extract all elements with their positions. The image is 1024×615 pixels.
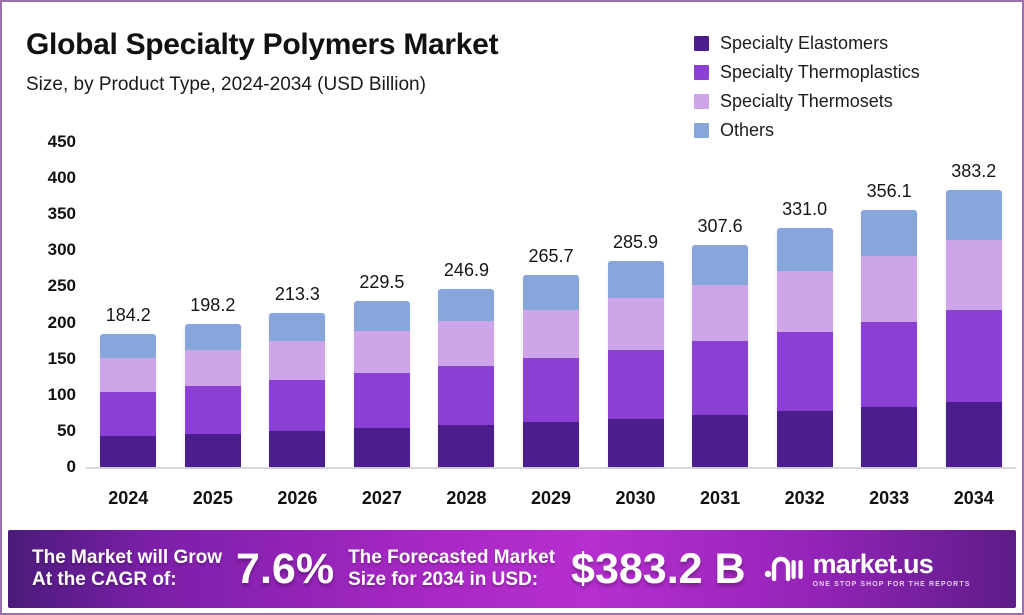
bar-segment[interactable] [438,425,494,467]
legend-item-label: Specialty Thermoplastics [720,62,920,83]
bar-segment[interactable] [861,256,917,322]
bar-segment[interactable] [608,261,664,298]
forecast-value: $383.2 B [571,545,746,594]
bar-segment[interactable] [861,407,917,467]
y-axis-tick-label: 50 [16,421,76,441]
bar-segment[interactable] [608,298,664,351]
x-axis-baseline [86,467,1016,469]
page-subtitle: Size, by Product Type, 2024-2034 (USD Bi… [26,74,426,96]
bar-segment[interactable] [354,331,410,373]
bar-segment[interactable] [523,275,579,310]
bar-group[interactable]: 184.2 [100,142,156,467]
y-axis-tick-label: 0 [16,457,76,477]
bar-segment[interactable] [185,350,241,386]
legend-item-label: Specialty Thermosets [720,91,893,112]
forecast-caption: The Forecasted Market Size for 2034 in U… [348,547,555,592]
bar-segment[interactable] [692,245,748,285]
bar-segment[interactable] [185,434,241,467]
bar-segment[interactable] [269,380,325,431]
legend-swatch-icon [694,123,709,138]
legend-item[interactable]: Specialty Thermosets [694,87,920,116]
bar-segment[interactable] [523,422,579,467]
bar-group[interactable]: 229.5 [354,142,410,467]
bar-segment[interactable] [861,322,917,407]
bar-segment[interactable] [438,289,494,321]
legend-swatch-icon [694,94,709,109]
bar-group[interactable]: 213.3 [269,142,325,467]
bar-segment[interactable] [100,392,156,436]
stacked-bar[interactable] [523,275,579,467]
bar-segment[interactable] [692,285,748,342]
stacked-bar[interactable] [185,324,241,467]
legend-item[interactable]: Specialty Elastomers [694,29,920,58]
chart-plot-area: 450400350300250200150100500 184.2198.221… [2,142,1024,517]
bar-segment[interactable] [692,415,748,467]
bar-total-label: 383.2 [914,161,1024,182]
stacked-bar[interactable] [438,289,494,467]
bar-segment[interactable] [608,350,664,419]
bar-segment[interactable] [269,341,325,380]
cagr-caption-line1: The Market will Grow [32,547,222,569]
bar-group[interactable]: 246.9 [438,142,494,467]
footer-banner: The Market will Grow At the CAGR of: 7.6… [8,530,1016,608]
y-axis-tick-label: 150 [16,349,76,369]
bar-segment[interactable] [692,341,748,415]
cagr-caption-line2: At the CAGR of: [32,569,222,591]
stacked-bar[interactable] [692,245,748,467]
y-axis-tick-label: 250 [16,276,76,296]
bar-segment[interactable] [100,436,156,467]
bar-segment[interactable] [946,402,1002,467]
bar-segment[interactable] [523,310,579,359]
legend-item-label: Others [720,120,774,141]
bar-segment[interactable] [946,310,1002,402]
logo-tagline: ONE STOP SHOP FOR THE REPORTS [813,581,971,588]
bar-segment[interactable] [269,431,325,467]
cagr-caption: The Market will Grow At the CAGR of: [32,547,222,592]
bar-group[interactable]: 285.9 [608,142,664,467]
y-axis: 450400350300250200150100500 [14,142,76,517]
bar-segment[interactable] [777,332,833,411]
bar-segment[interactable] [777,411,833,467]
bar-total-label: 331.0 [745,199,865,220]
forecast-caption-line1: The Forecasted Market [348,547,555,569]
bar-group[interactable]: 383.2 [946,142,1002,467]
bar-segment[interactable] [861,210,917,256]
legend-swatch-icon [694,36,709,51]
x-axis-tick-label: 2034 [914,488,1024,509]
legend-swatch-icon [694,65,709,80]
bar-segment[interactable] [354,428,410,467]
stacked-bar[interactable] [608,261,664,467]
bar-segment[interactable] [438,321,494,366]
bar-segment[interactable] [100,334,156,358]
legend-item[interactable]: Others [694,116,920,145]
stacked-bar[interactable] [354,301,410,467]
forecast-caption-line2: Size for 2034 in USD: [348,569,555,591]
stacked-bar[interactable] [100,334,156,467]
infographic-root: Global Specialty Polymers Market Size, b… [0,0,1024,615]
bar-segment[interactable] [608,419,664,467]
y-axis-tick-label: 400 [16,168,76,188]
stacked-bar[interactable] [946,190,1002,467]
chart-legend: Specialty ElastomersSpecialty Thermoplas… [694,29,920,145]
bar-segment[interactable] [438,366,494,425]
stacked-bar[interactable] [861,210,917,467]
stacked-bar[interactable] [269,313,325,467]
legend-item-label: Specialty Elastomers [720,33,888,54]
market-us-logo-icon [764,552,804,587]
bar-segment[interactable] [100,358,156,392]
bar-segment[interactable] [185,386,241,434]
bar-segment[interactable] [269,313,325,341]
bar-group[interactable]: 356.1 [861,142,917,467]
page-title: Global Specialty Polymers Market [26,28,498,62]
bar-segment[interactable] [185,324,241,350]
bar-segment[interactable] [354,301,410,331]
market-us-logo: market.us ONE STOP SHOP FOR THE REPORTS [764,551,971,588]
bar-segment[interactable] [777,271,833,332]
y-axis-tick-label: 350 [16,204,76,224]
bar-series-container: 184.2198.2213.3229.5246.9265.7285.9307.6… [86,142,1016,467]
bar-group[interactable]: 307.6 [692,142,748,467]
bar-group[interactable]: 198.2 [185,142,241,467]
stacked-bar[interactable] [777,228,833,467]
y-axis-tick-label: 200 [16,313,76,333]
legend-item[interactable]: Specialty Thermoplastics [694,58,920,87]
chart-header: Global Specialty Polymers Market Size, b… [2,2,1024,142]
cagr-value: 7.6% [236,545,334,594]
bar-segment[interactable] [777,228,833,271]
market-us-logo-text: market.us ONE STOP SHOP FOR THE REPORTS [813,551,971,588]
bar-group[interactable]: 331.0 [777,142,833,467]
bar-segment[interactable] [523,358,579,422]
bar-group[interactable]: 265.7 [523,142,579,467]
y-axis-tick-label: 100 [16,385,76,405]
y-axis-tick-label: 450 [16,132,76,152]
y-axis-tick-label: 300 [16,240,76,260]
logo-wordmark: market.us [813,551,971,578]
bar-total-label: 356.1 [829,181,949,202]
bar-segment[interactable] [946,240,1002,310]
bar-segment[interactable] [946,190,1002,240]
bar-segment[interactable] [354,373,410,428]
